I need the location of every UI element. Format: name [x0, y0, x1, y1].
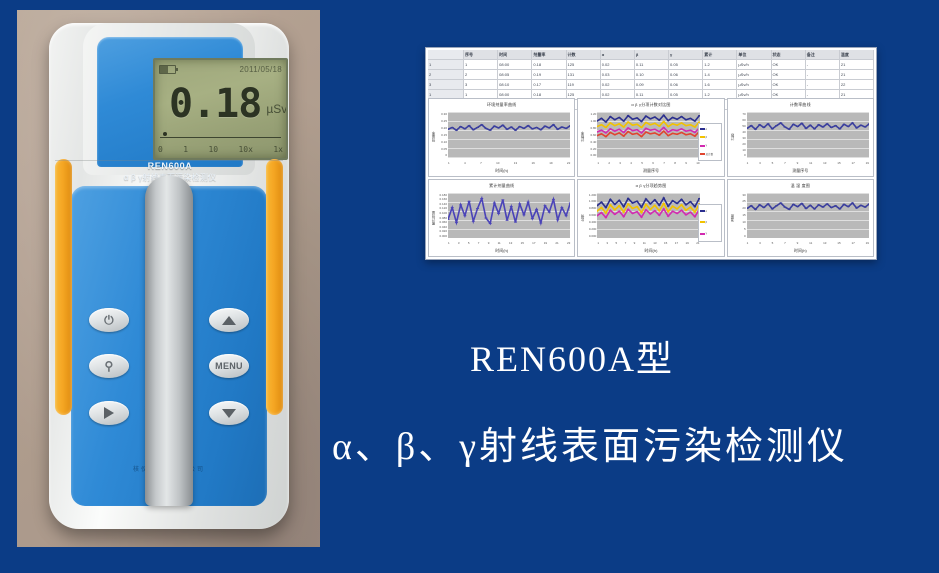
- table-cell: 0.02: [601, 80, 635, 89]
- legend-swatch: [700, 128, 705, 130]
- x-tick-label: 21: [696, 241, 699, 248]
- y-tick-label: 0.100: [435, 211, 447, 215]
- y-tick-label: 0.080: [435, 216, 447, 220]
- y-tick-label: 0.05: [435, 147, 447, 151]
- lcd-reading: 0.18 µSv/h: [155, 76, 286, 132]
- x-tick-label: 5: [772, 241, 774, 248]
- mini-chart-yticks: 1.201.000.800.600.400.200.00: [584, 112, 596, 158]
- table-column-header: 剂量率: [532, 50, 566, 59]
- table-cell: 0.06: [669, 70, 703, 79]
- y-tick-label: 0.040: [435, 225, 447, 229]
- x-tick-label: 4: [630, 161, 632, 168]
- x-tick-label: 7: [784, 161, 786, 168]
- mini-chart-xlabel: 时间(h): [429, 168, 574, 174]
- table-row: 3308:100.171190.020.090.061.6µSv/hOK-22: [428, 80, 874, 90]
- x-tick-label: 10: [696, 161, 699, 168]
- table-cell: 0.17: [532, 80, 566, 89]
- x-tick-label: 22: [567, 161, 570, 168]
- y-tick-label: 20: [734, 142, 746, 146]
- table-column-header: 备注: [806, 50, 840, 59]
- mini-chart-yticks: 706050403020100: [734, 112, 746, 158]
- legend-swatch: [700, 233, 705, 235]
- x-tick-label: 2: [608, 161, 610, 168]
- x-tick-label: 11: [809, 241, 812, 248]
- table-column-header: 序号: [464, 50, 498, 59]
- y-tick-label: 0.80: [584, 126, 596, 130]
- x-tick-label: 13: [823, 241, 826, 248]
- x-tick-label: 1: [747, 241, 749, 248]
- y-tick-label: 0.40: [584, 140, 596, 144]
- table-cell: 1: [464, 60, 498, 69]
- table-cell: 21: [840, 70, 874, 79]
- table-row-label: [428, 50, 464, 59]
- table-cell: 131: [567, 70, 601, 79]
- x-tick-label: 10: [496, 161, 499, 168]
- legend-swatch: [700, 136, 705, 138]
- chevron-down-icon: [222, 409, 236, 418]
- y-tick-label: 0.600: [584, 213, 596, 217]
- mini-chart-plot: [448, 112, 570, 158]
- x-tick-label: 1: [448, 161, 450, 168]
- y-tick-label: 1.20: [584, 112, 596, 116]
- mini-chart-xlabel: 时间(h): [578, 248, 723, 254]
- legend-entry: γ: [700, 144, 720, 147]
- legend-label: β: [706, 136, 707, 139]
- table-column-header: 状态: [772, 50, 806, 59]
- y-tick-label: 70: [734, 112, 746, 116]
- power-button[interactable]: ⏻: [89, 308, 129, 332]
- mini-chart-title: α β γ分项趋势图: [578, 183, 723, 189]
- x-tick-label: 3: [619, 161, 621, 168]
- legend-entry: β: [700, 136, 720, 139]
- y-tick-label: 50: [734, 124, 746, 128]
- software-screenshot-panel: 序号时间剂量率计数αβγ累计单位状态备注温度1108:000.181250.02…: [425, 47, 877, 260]
- legend-swatch: [700, 145, 705, 147]
- legend-swatch: [700, 153, 705, 155]
- table-row-label: 2: [428, 70, 464, 79]
- mini-chart-yticks: 0.1800.1600.1400.1200.1000.0800.0600.040…: [435, 193, 447, 239]
- x-tick-label: 17: [675, 241, 678, 248]
- table-cell: 1.2: [703, 60, 737, 69]
- table-cell: 0.05: [669, 60, 703, 69]
- chart-grid: 环境剂量率曲线剂量率0.300.250.200.150.100.05014710…: [428, 98, 874, 257]
- y-tick-label: 0.20: [435, 126, 447, 130]
- mini-chart: 环境剂量率曲线剂量率0.300.250.200.150.100.05014710…: [428, 98, 575, 177]
- legend-label: γ: [706, 232, 707, 235]
- mini-chart-yticks: 302520151050: [734, 193, 746, 239]
- side-grip-left: [55, 159, 72, 415]
- table-cell: 119: [567, 80, 601, 89]
- y-tick-label: 0.160: [435, 197, 447, 201]
- x-tick-label: 9: [634, 241, 636, 248]
- device-model-label: REN600A: [97, 161, 243, 171]
- legend-label: α: [706, 210, 707, 213]
- scale-tick: 0: [158, 145, 163, 154]
- y-tick-label: 5: [734, 227, 746, 231]
- y-tick-label: 0.00: [584, 153, 596, 157]
- y-tick-label: 10: [734, 220, 746, 224]
- table-cell: 0.02: [601, 60, 635, 69]
- legend-entry: β: [700, 221, 720, 224]
- table-cell: 21: [840, 60, 874, 69]
- table-column-header: α: [601, 50, 635, 59]
- x-tick-label: 5: [772, 161, 774, 168]
- legend-label: β: [706, 221, 707, 224]
- search-button[interactable]: ⚲: [89, 354, 129, 378]
- y-tick-label: 30: [734, 136, 746, 140]
- x-tick-label: 15: [837, 161, 840, 168]
- legend-entry: α: [700, 128, 720, 131]
- table-cell: 0.06: [669, 80, 703, 89]
- menu-button[interactable]: MENU: [209, 354, 249, 378]
- legend-label: α: [706, 128, 707, 131]
- legend-entry: 总计数: [700, 152, 720, 156]
- lcd-value: 0.18: [169, 84, 261, 124]
- x-tick-label: 21: [555, 241, 558, 248]
- side-grip-right: [266, 159, 283, 415]
- x-tick-label: 17: [851, 241, 854, 248]
- x-tick-label: 19: [686, 241, 689, 248]
- table-cell: -: [806, 60, 840, 69]
- table-cell: 3: [464, 80, 498, 89]
- x-tick-label: 7: [784, 241, 786, 248]
- table-row: 2208:050.191310.030.100.061.4µSv/hOK-21: [428, 70, 874, 80]
- y-tick-label: 1.000: [584, 199, 596, 203]
- y-tick-label: 1.00: [584, 119, 596, 123]
- y-tick-label: 1.200: [584, 193, 596, 197]
- x-tick-label: 5: [641, 161, 643, 168]
- y-tick-label: 0.200: [584, 227, 596, 231]
- menu-button-label: MENU: [215, 361, 243, 371]
- x-tick-label: 1: [747, 161, 749, 168]
- device-top-faceplate: 2011/05/18 0.18 µSv/h 0 1 10 10x 1x: [97, 37, 243, 167]
- y-tick-label: 0.180: [435, 193, 447, 197]
- mini-chart: 累计剂量曲线累计剂量0.1800.1600.1400.1200.1000.080…: [428, 179, 575, 258]
- x-tick-label: 9: [797, 161, 799, 168]
- mini-chart: α β γ分项计数对比图计数率1.201.000.800.600.400.200…: [577, 98, 724, 177]
- table-column-header: 温度: [840, 50, 874, 59]
- y-tick-label: 30: [734, 193, 746, 197]
- x-tick-label: 13: [653, 241, 656, 248]
- mini-chart-xlabel: 测量序号: [578, 168, 723, 174]
- legend-swatch: [700, 221, 705, 223]
- legend-label: γ: [706, 144, 707, 147]
- table-cell: 0.11: [635, 60, 669, 69]
- x-tick-label: 13: [823, 161, 826, 168]
- x-tick-label: 16: [532, 161, 535, 168]
- y-tick-label: 20: [734, 206, 746, 210]
- y-tick-label: 0.400: [584, 220, 596, 224]
- x-tick-label: 13: [509, 241, 512, 248]
- table-cell: 08:10: [498, 80, 532, 89]
- table-column-header: 计数: [567, 50, 601, 59]
- mini-chart-plot: [597, 193, 699, 239]
- down-button[interactable]: [209, 401, 249, 425]
- x-tick-label: 3: [759, 161, 761, 168]
- x-tick-label: 19: [549, 161, 552, 168]
- poster-canvas: 2011/05/18 0.18 µSv/h 0 1 10 10x 1x: [0, 0, 939, 573]
- legend-swatch: [700, 210, 705, 212]
- table-cell: 0.09: [635, 80, 669, 89]
- x-tick-label: 5: [468, 241, 470, 248]
- mini-chart-xlabel: 时间(h): [728, 248, 873, 254]
- scale-tick: 1: [183, 145, 188, 154]
- power-icon: ⏻: [104, 314, 114, 326]
- legend-entry: α: [700, 210, 720, 213]
- table-cell: -: [806, 80, 840, 89]
- x-tick-label: 6: [652, 161, 654, 168]
- mini-chart-xticks: 12345678910: [597, 161, 699, 168]
- legend-label: 总计数: [706, 152, 714, 156]
- mini-chart-plot: [448, 193, 570, 239]
- mini-chart-xticks: 1357911131517192123: [448, 241, 570, 248]
- table-cell: 1.6: [703, 80, 737, 89]
- table-cell: OK: [772, 70, 806, 79]
- mini-chart-xticks: 1471013161922: [448, 161, 570, 168]
- mini-chart: α β γ分项趋势图比例1.2001.0000.8000.6000.4000.2…: [577, 179, 724, 258]
- y-tick-label: 0.25: [435, 119, 447, 123]
- y-tick-label: 40: [734, 130, 746, 134]
- x-tick-label: 19: [866, 241, 869, 248]
- y-tick-label: 0.30: [435, 112, 447, 116]
- mini-chart-legend: αβγ总计数: [698, 123, 722, 161]
- mini-chart-title: 累计剂量曲线: [429, 183, 574, 189]
- x-tick-label: 7: [480, 161, 482, 168]
- product-title-line1: REN600A型: [470, 330, 930, 382]
- x-tick-label: 5: [615, 241, 617, 248]
- table-column-header: β: [635, 50, 669, 59]
- y-tick-label: 0.120: [435, 206, 447, 210]
- y-tick-label: 0: [734, 234, 746, 238]
- legend-entry: γ: [700, 232, 720, 235]
- x-tick-label: 11: [498, 241, 501, 248]
- x-tick-label: 8: [674, 161, 676, 168]
- scale-tick: 10x: [238, 145, 252, 154]
- mini-chart-title: 温 湿 度图: [728, 183, 873, 189]
- x-tick-label: 13: [514, 161, 517, 168]
- y-tick-label: 0.60: [584, 133, 596, 137]
- mini-chart-xticks: 13579111315171921: [597, 241, 699, 248]
- x-tick-label: 11: [643, 241, 646, 248]
- mini-chart-yticks: 0.300.250.200.150.100.050: [435, 112, 447, 158]
- play-icon: [104, 407, 114, 419]
- x-tick-label: 1: [597, 161, 599, 168]
- product-title-line2: α、β、γ射线表面污染检测仪: [332, 415, 932, 470]
- y-tick-label: 0.060: [435, 220, 447, 224]
- table-row: 1108:000.181250.020.110.051.2µSv/hOK-21: [428, 60, 874, 70]
- x-tick-label: 1: [597, 241, 599, 248]
- x-tick-label: 3: [458, 241, 460, 248]
- x-tick-label: 7: [625, 241, 627, 248]
- table-cell: µSv/h: [737, 80, 771, 89]
- x-tick-label: 1: [448, 241, 450, 248]
- table-header-row: 序号时间剂量率计数αβγ累计单位状态备注温度: [428, 50, 874, 60]
- mini-chart-title: 计数率曲线: [728, 102, 873, 108]
- x-tick-label: 19: [866, 161, 869, 168]
- table-cell: 22: [840, 80, 874, 89]
- x-tick-label: 15: [837, 241, 840, 248]
- table-cell: 0.10: [635, 70, 669, 79]
- table-cell: 0.18: [532, 60, 566, 69]
- y-tick-label: 0.000: [584, 234, 596, 238]
- x-tick-label: 15: [521, 241, 524, 248]
- x-tick-label: 3: [606, 241, 608, 248]
- detector-device: 2011/05/18 0.18 µSv/h 0 1 10 10x 1x: [49, 23, 289, 529]
- chevron-up-icon: [222, 316, 236, 325]
- table-cell: 08:00: [498, 60, 532, 69]
- lcd-display: 2011/05/18 0.18 µSv/h 0 1 10 10x 1x: [153, 58, 288, 160]
- table-column-header: 时间: [498, 50, 532, 59]
- y-tick-label: 15: [734, 213, 746, 217]
- table-column-header: 累计: [703, 50, 737, 59]
- battery-icon: [159, 65, 176, 74]
- x-tick-label: 19: [544, 241, 547, 248]
- mini-chart-xlabel: 测量序号: [728, 168, 873, 174]
- table-cell: 2: [464, 70, 498, 79]
- mini-chart-title: α β γ分项计数对比图: [578, 102, 723, 108]
- up-button[interactable]: [209, 308, 249, 332]
- x-tick-label: 3: [759, 241, 761, 248]
- x-tick-label: 7: [663, 161, 665, 168]
- data-table: 序号时间剂量率计数αβγ累计单位状态备注温度1108:000.181250.02…: [428, 50, 874, 96]
- play-button[interactable]: [89, 401, 129, 425]
- x-tick-label: 17: [851, 161, 854, 168]
- hand-strap: [145, 176, 193, 506]
- y-tick-label: 10: [734, 148, 746, 152]
- table-cell: OK: [772, 80, 806, 89]
- mini-chart-xlabel: 时间(h): [429, 248, 574, 254]
- table-cell: µSv/h: [737, 60, 771, 69]
- lcd-status-bar: 2011/05/18: [159, 63, 282, 76]
- table-cell: 0.19: [532, 70, 566, 79]
- table-row-label: 3: [428, 80, 464, 89]
- y-tick-label: 0.000: [435, 234, 447, 238]
- mini-chart-plot: [747, 112, 869, 158]
- x-tick-label: 9: [797, 241, 799, 248]
- lcd-unit: µSv/h: [266, 102, 288, 116]
- product-photo: 2011/05/18 0.18 µSv/h 0 1 10 10x 1x: [17, 10, 320, 547]
- y-tick-label: 0.140: [435, 202, 447, 206]
- y-tick-label: 0: [435, 153, 447, 157]
- x-tick-label: 7: [478, 241, 480, 248]
- mini-chart-plot: [597, 112, 699, 158]
- mini-chart-yticks: 1.2001.0000.8000.6000.4000.2000.000: [584, 193, 596, 239]
- table-column-header: γ: [669, 50, 703, 59]
- y-tick-label: 0: [734, 153, 746, 157]
- y-tick-label: 25: [734, 199, 746, 203]
- lcd-scale: 0 1 10 10x 1x: [158, 142, 283, 156]
- x-tick-label: 15: [664, 241, 667, 248]
- table-cell: µSv/h: [737, 70, 771, 79]
- mini-chart-plot: [747, 193, 869, 239]
- x-tick-label: 9: [685, 161, 687, 168]
- x-tick-label: 4: [464, 161, 466, 168]
- y-tick-label: 0.20: [584, 147, 596, 151]
- lcd-datetime: 2011/05/18: [240, 65, 282, 74]
- mini-chart-xticks: 135791113151719: [747, 161, 869, 168]
- y-tick-label: 0.800: [584, 206, 596, 210]
- search-icon: ⚲: [104, 360, 113, 372]
- mini-chart: 计数率曲线计数706050403020100135791113151719测量序…: [727, 98, 874, 177]
- table-column-header: 单位: [737, 50, 771, 59]
- table-row-label: 1: [428, 60, 464, 69]
- table-cell: 125: [567, 60, 601, 69]
- y-tick-label: 60: [734, 118, 746, 122]
- table-cell: OK: [772, 60, 806, 69]
- mini-chart: 温 湿 度图温度302520151050135791113151719时间(h): [727, 179, 874, 258]
- mini-chart-legend: αβγ: [698, 204, 722, 242]
- x-tick-label: 23: [567, 241, 570, 248]
- table-cell: 1.4: [703, 70, 737, 79]
- y-tick-label: 0.020: [435, 229, 447, 233]
- x-tick-label: 11: [809, 161, 812, 168]
- mini-chart-title: 环境剂量率曲线: [429, 102, 574, 108]
- scale-tick: 1x: [273, 145, 283, 154]
- table-cell: -: [806, 70, 840, 79]
- mini-chart-xticks: 135791113151719: [747, 241, 869, 248]
- scale-tick: 10: [208, 145, 218, 154]
- table-cell: 08:05: [498, 70, 532, 79]
- x-tick-label: 17: [532, 241, 535, 248]
- lcd-bargraph: [160, 130, 281, 138]
- x-tick-label: 9: [488, 241, 490, 248]
- table-cell: 0.03: [601, 70, 635, 79]
- y-tick-label: 0.15: [435, 133, 447, 137]
- y-tick-label: 0.10: [435, 140, 447, 144]
